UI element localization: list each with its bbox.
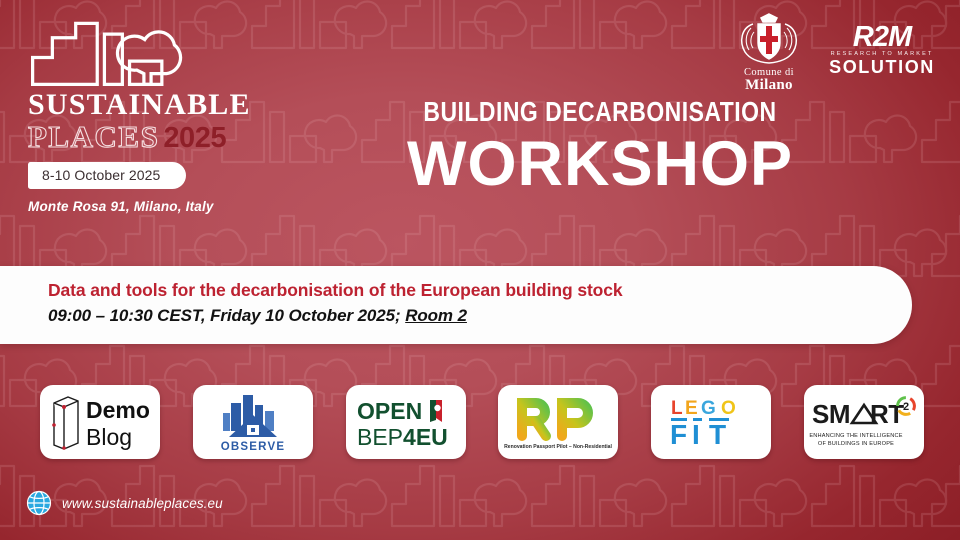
session-details: 09:00 – 10:30 CEST, Friday 10 October 20… xyxy=(48,306,912,326)
svg-text:L: L xyxy=(671,398,683,419)
brand-line-1: SUSTAINABLE xyxy=(28,90,278,120)
milano-crest-icon xyxy=(731,10,807,66)
svg-text:T: T xyxy=(709,419,726,450)
rp-logo-icon: Renovation Passport Pilot – Non-Resident… xyxy=(502,391,614,453)
brand-line-2: PLACES xyxy=(28,121,159,152)
svg-text:E: E xyxy=(685,398,698,419)
session-title: Data and tools for the decarbonisation o… xyxy=(48,280,912,301)
globe-icon xyxy=(26,490,52,516)
openbep4eu-logo-icon: OPEN BEP4EU xyxy=(354,395,458,449)
observe-logo-icon: OBSERVE xyxy=(207,391,299,453)
svg-text:OBSERVE: OBSERVE xyxy=(221,441,285,453)
sustainable-places-wordmark: SUSTAINABLE PLACES 2025 xyxy=(28,90,278,153)
svg-text:I: I xyxy=(692,419,700,450)
skyline-tree-icon xyxy=(28,18,188,88)
smart2-logo-icon: SM RT 2 ENHANCING THE INTELLIGENCE OF BU… xyxy=(808,393,920,451)
svg-text:O: O xyxy=(721,398,736,419)
headline-title: WORKSHOP xyxy=(300,132,900,196)
svg-text:SM: SM xyxy=(812,399,850,429)
session-room: Room 2 xyxy=(405,306,467,325)
project-card-smart2[interactable]: SM RT 2 ENHANCING THE INTELLIGENCE OF BU… xyxy=(804,385,924,459)
session-banner: Data and tools for the decarbonisation o… xyxy=(0,266,912,344)
svg-text:ENHANCING THE INTELLIGENCE: ENHANCING THE INTELLIGENCE xyxy=(809,433,902,439)
comune-di-milano-logo: Comune di Milano xyxy=(726,10,812,94)
svg-text:G: G xyxy=(701,398,716,419)
r2m-wordmark: R2M xyxy=(824,24,940,51)
svg-text:Renovation Passport Pilot – No: Renovation Passport Pilot – Non-Resident… xyxy=(504,444,612,450)
brand-year: 2025 xyxy=(163,124,226,153)
svg-text:OPEN: OPEN xyxy=(357,398,422,424)
project-card-legofit[interactable]: L E G O F I T xyxy=(651,385,771,459)
r2m-solution-word: SOLUTION xyxy=(824,58,940,76)
event-venue: Monte Rosa 91, Milano, Italy xyxy=(28,199,278,214)
legofit-logo-icon: L E G O F I T xyxy=(665,392,757,452)
project-card-rp[interactable]: Renovation Passport Pilot – Non-Resident… xyxy=(498,385,618,459)
demoblog-logo-icon: Demo Blog xyxy=(44,391,156,453)
headline-kicker: BUILDING DECARBONISATION xyxy=(354,98,846,126)
svg-text:Blog: Blog xyxy=(86,424,132,450)
workshop-poster: SUSTAINABLE PLACES 2025 8-10 October 202… xyxy=(0,0,960,540)
session-time-date: 09:00 – 10:30 CEST, Friday 10 October 20… xyxy=(48,306,405,325)
milano-line-2: Milano xyxy=(726,78,812,94)
svg-text:2: 2 xyxy=(903,401,909,413)
r2m-solution-logo: R2M RESEARCH TO MARKET SOLUTION xyxy=(824,24,940,76)
svg-text:BEP4EU: BEP4EU xyxy=(357,424,448,449)
headline-block: BUILDING DECARBONISATION WORKSHOP xyxy=(300,98,900,196)
sustainable-places-logo: SUSTAINABLE PLACES 2025 8-10 October 202… xyxy=(28,18,278,214)
svg-text:OF BUILDINGS IN EUROPE: OF BUILDINGS IN EUROPE xyxy=(818,441,894,447)
footer-website[interactable]: www.sustainableplaces.eu xyxy=(26,490,223,516)
r2m-tagline: RESEARCH TO MARKET xyxy=(824,52,940,58)
project-logos-row: Demo Blog OBSERVE xyxy=(40,385,924,459)
project-card-demoblog[interactable]: Demo Blog xyxy=(40,385,160,459)
project-card-openbep4eu[interactable]: OPEN BEP4EU xyxy=(346,385,466,459)
website-url: www.sustainableplaces.eu xyxy=(62,496,223,511)
event-dates-badge: 8-10 October 2025 xyxy=(28,162,186,189)
project-card-observe[interactable]: OBSERVE xyxy=(193,385,313,459)
svg-text:Demo: Demo xyxy=(86,397,150,423)
svg-text:F: F xyxy=(670,419,687,450)
